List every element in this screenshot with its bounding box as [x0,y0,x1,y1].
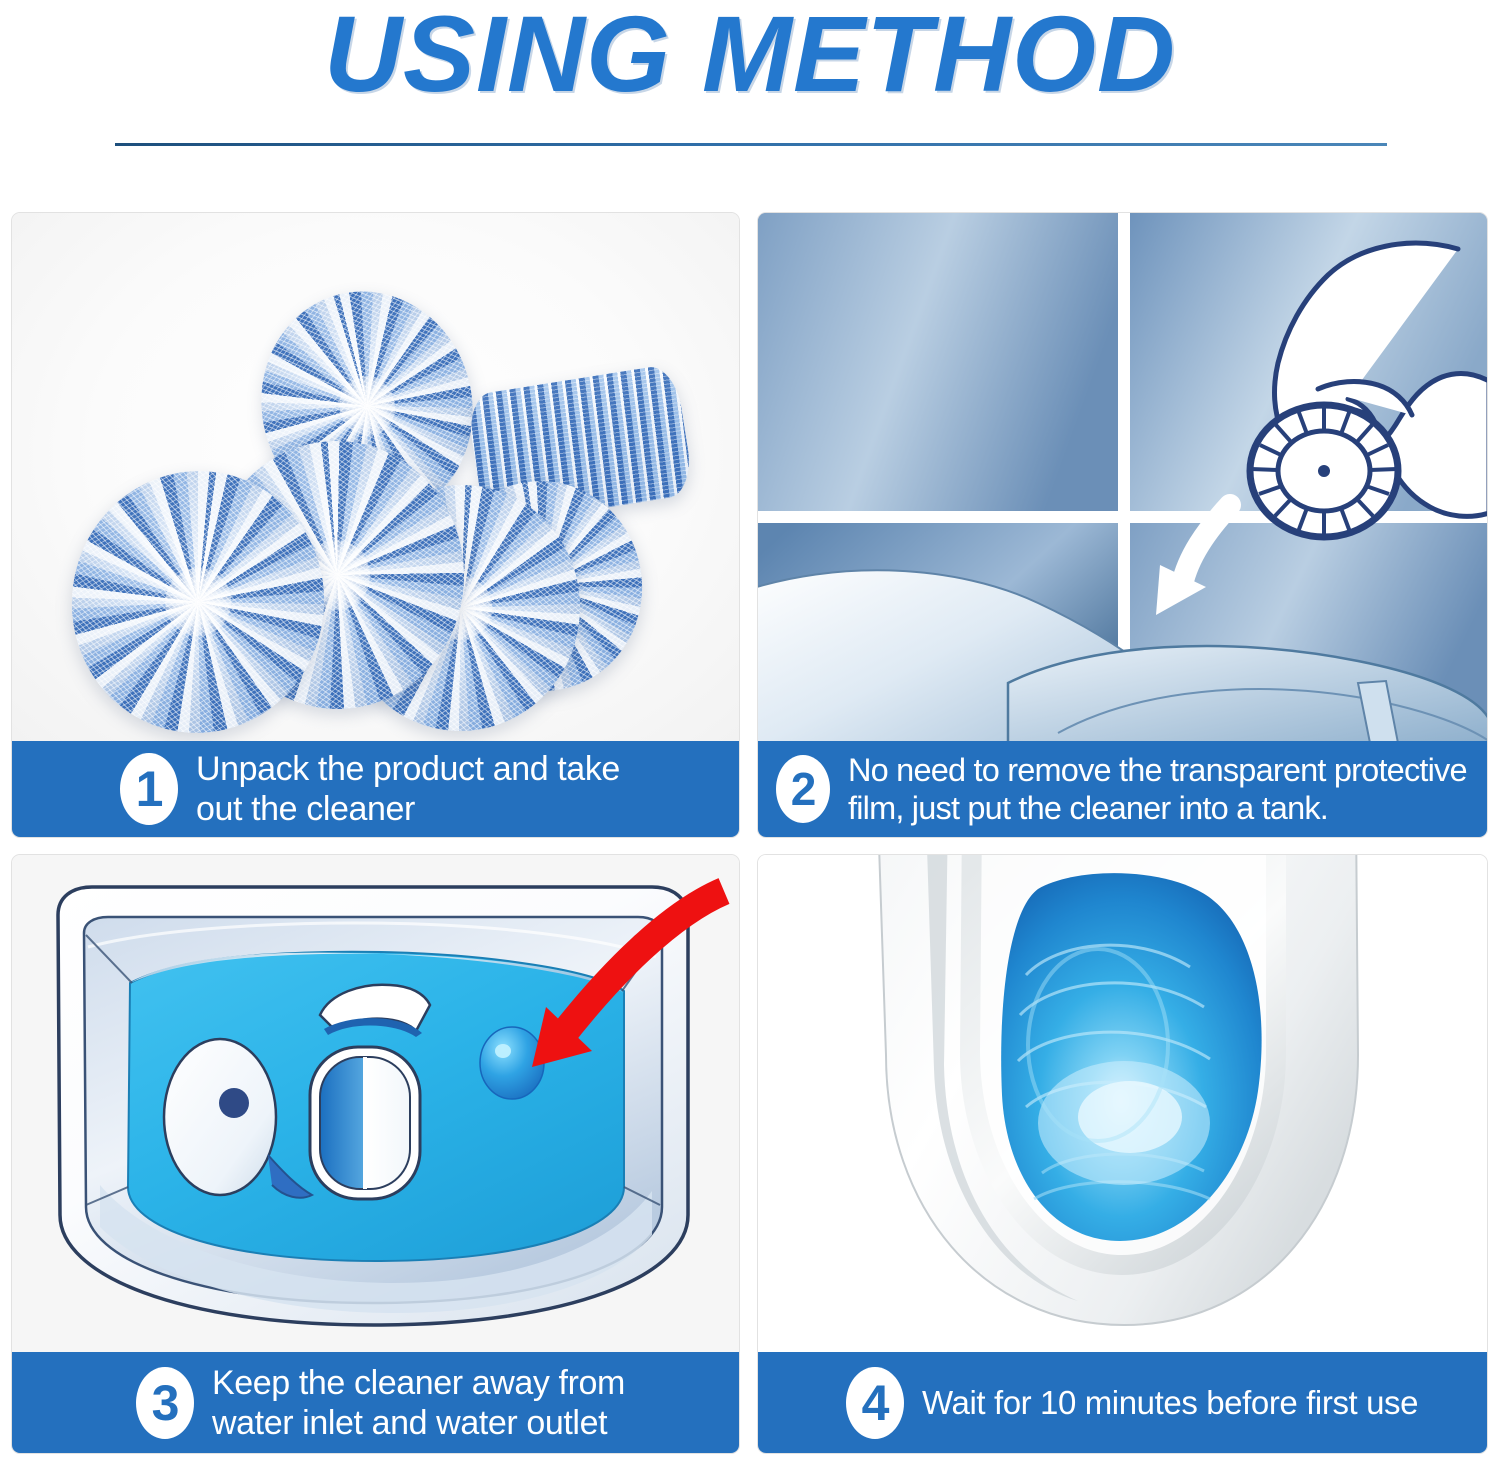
step-4-caption: 4 Wait for 10 minutes before first use [758,1352,1487,1453]
infographic-page: USING METHOD [0,0,1500,1466]
page-title: USING METHOD [0,0,1500,114]
step-1-image [12,213,739,743]
title-divider [115,143,1387,146]
flush-valve [310,1047,420,1199]
step-2-caption: 2 No need to remove the transparent prot… [758,741,1487,837]
step-panel-3: Setting position Water inlet/outlet 3 Ke… [11,854,740,1454]
tank-top-view-diagram: Setting position Water inlet/outlet [12,855,740,1354]
header: USING METHOD [0,0,1500,200]
step-caption-text: Wait for 10 minutes before first use [922,1383,1418,1423]
product-photo [12,213,740,743]
bowl-svg [758,855,1488,1354]
step-3-caption: 3 Keep the cleaner away from water inlet… [12,1352,739,1453]
toilet-bowl-photo [758,855,1488,1354]
step-3-image: Setting position Water inlet/outlet [12,855,739,1354]
tank-drop-svg [758,213,1488,743]
step-4-image [758,855,1487,1354]
step-1-caption: 1 Unpack the product and take out the cl… [12,741,739,837]
tank-diagram-svg [12,855,740,1354]
step-number-badge: 4 [846,1367,904,1439]
step-panel-4: 4 Wait for 10 minutes before first use [757,854,1488,1454]
step-caption-text: No need to remove the transparent protec… [848,751,1467,827]
cleaner-disc-icon [1250,405,1398,537]
step-panel-2: 2 No need to remove the transparent prot… [757,212,1488,838]
step-number-badge: 3 [136,1367,194,1439]
hand-drop-illustration [758,213,1488,743]
step-number-badge: 2 [776,755,830,823]
step-caption-text: Unpack the product and take out the clea… [196,749,620,829]
step-2-image [758,213,1487,743]
step-number-badge: 1 [120,753,178,825]
step-caption-text: Keep the cleaner away from water inlet a… [212,1363,625,1443]
step-panel-1: 1 Unpack the product and take out the cl… [11,212,740,838]
